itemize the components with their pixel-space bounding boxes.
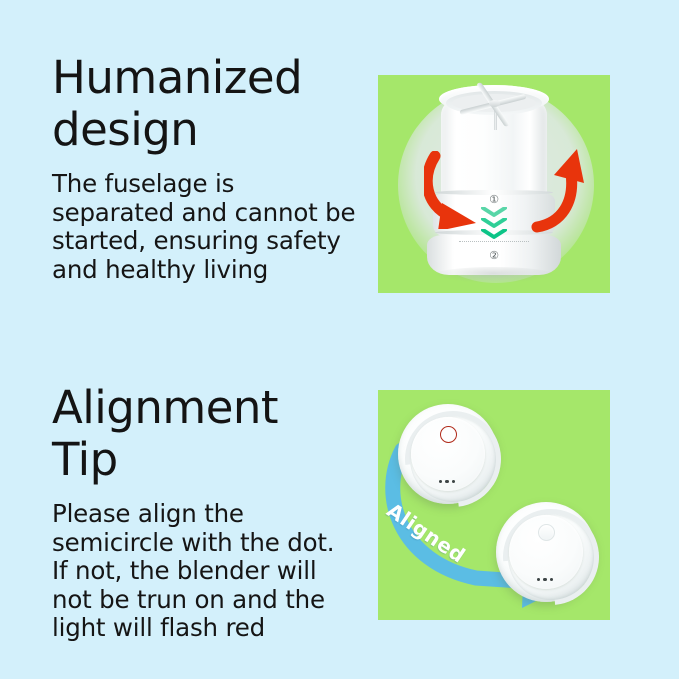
unit-outer-disc bbox=[398, 404, 498, 504]
base-contact-dots bbox=[439, 480, 455, 483]
infographic-page: Humanized design The fuselage is separat… bbox=[0, 0, 679, 679]
base-contact-dots bbox=[537, 578, 553, 581]
image-panel-alignment-tip: Aligned bbox=[378, 390, 610, 620]
body-humanized-design: The fuselage is separated and cannot be … bbox=[52, 170, 372, 284]
blender-dotted-seam bbox=[459, 241, 529, 242]
unit-outer-disc bbox=[496, 502, 596, 602]
text-column-humanized-design: Humanized design The fuselage is separat… bbox=[52, 52, 372, 284]
blade-hub bbox=[489, 100, 500, 107]
body-alignment-tip: Please align the semicircle with the dot… bbox=[52, 500, 372, 643]
chevron-down-icon-3 bbox=[481, 229, 507, 240]
indicator-light-neutral bbox=[538, 524, 555, 541]
blender-base-unit-misaligned bbox=[398, 404, 498, 504]
heading-humanized-design: Humanized design bbox=[52, 52, 372, 156]
section-humanized-design: Humanized design The fuselage is separat… bbox=[0, 0, 679, 340]
blender-base-unit-aligned bbox=[496, 502, 596, 602]
blender-illustration: ① ② bbox=[419, 89, 569, 279]
rotate-arrow-right-icon bbox=[527, 147, 587, 233]
rotate-arrow-left-icon bbox=[424, 151, 496, 229]
blender-base-shadow bbox=[433, 267, 555, 283]
heading-alignment-tip: Alignment Tip bbox=[52, 382, 372, 486]
section-alignment-tip: Alignment Tip Please align the semicircl… bbox=[0, 340, 679, 679]
indicator-light-red bbox=[440, 426, 457, 443]
marker-two: ② bbox=[419, 249, 569, 262]
text-column-alignment-tip: Alignment Tip Please align the semicircl… bbox=[52, 382, 372, 643]
image-panel-humanized-design: ① ② bbox=[378, 75, 610, 293]
